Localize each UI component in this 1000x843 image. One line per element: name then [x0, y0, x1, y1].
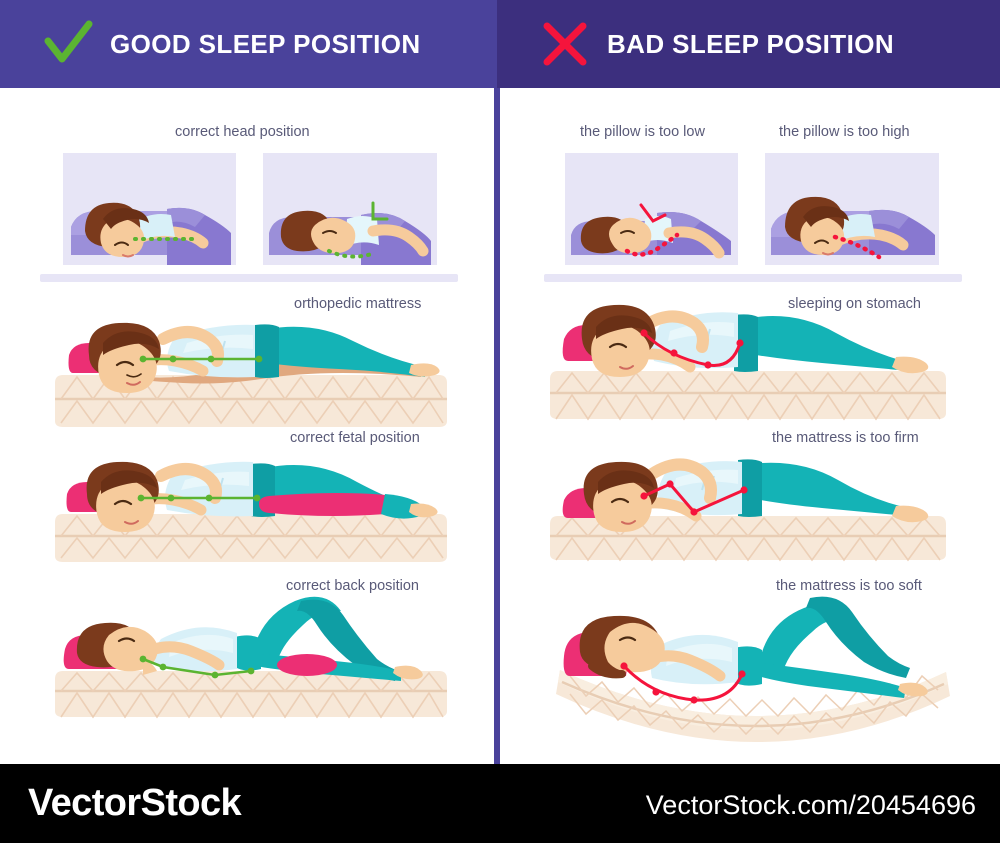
check-icon [42, 18, 94, 70]
panel-pillow-too-low [565, 153, 738, 265]
scene-sleeping-on-stomach [548, 283, 953, 423]
header-good-title: GOOD SLEEP POSITION [110, 29, 421, 60]
header-bar: GOOD SLEEP POSITION BAD SLEEP POSITION [0, 0, 1000, 88]
good-sleep-column: correct head position [0, 88, 494, 764]
scene-mattress-too-firm [548, 438, 953, 563]
caption-pillow-too-high: the pillow is too high [779, 124, 910, 140]
caption-correct-head-position: correct head position [175, 124, 310, 140]
vectorstock-logo: VectorStock [28, 782, 241, 825]
scene-correct-fetal-position [55, 438, 455, 558]
head-section-separator-bad [544, 274, 962, 282]
cross-icon [539, 18, 591, 70]
header-bad-title: BAD SLEEP POSITION [607, 29, 894, 60]
vectorstock-url: VectorStock.com/20454696 [646, 790, 976, 821]
panel-side-sleeping-correct-head [63, 153, 236, 265]
mattress-firm [550, 371, 946, 419]
panel-back-sleeping-correct-head [263, 153, 437, 265]
scene-correct-back-position [55, 583, 455, 718]
head-section-separator [40, 274, 458, 282]
infographic-page: GOOD SLEEP POSITION BAD SLEEP POSITION c… [0, 0, 1000, 843]
scene-orthopedic-mattress [55, 303, 455, 423]
header-good-half: GOOD SLEEP POSITION [0, 0, 497, 88]
header-bad-half: BAD SLEEP POSITION [497, 0, 1000, 88]
scene-mattress-too-soft [548, 578, 958, 738]
panel-pillow-too-high [765, 153, 939, 265]
footer-bar: VectorStock VectorStock.com/20454696 [0, 764, 1000, 843]
caption-pillow-too-low: the pillow is too low [580, 124, 705, 140]
bad-sleep-column: the pillow is too low the pillow is too … [500, 88, 1000, 764]
